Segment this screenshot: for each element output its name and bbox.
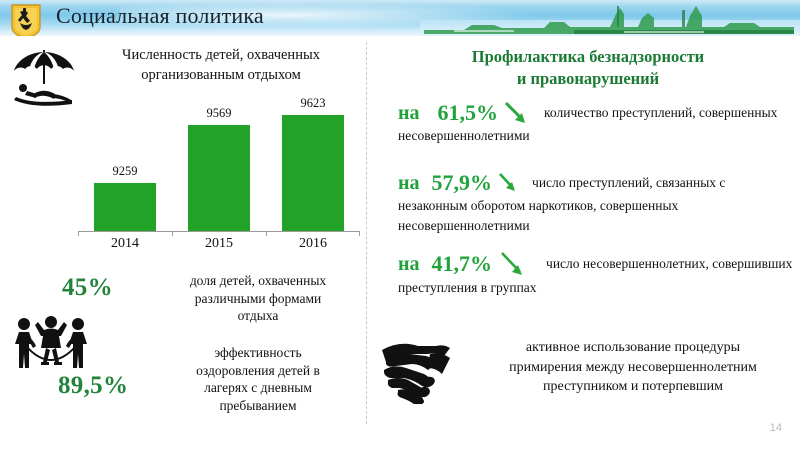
page-title: Социальная политика (56, 3, 264, 29)
bar-value-2014: 9259 (113, 164, 138, 179)
right-title-line-2: и правонарушений (517, 69, 659, 88)
stat-percent-value: 61,5% (438, 100, 499, 126)
mediation-line-2: примирения между несовершеннолетним (509, 360, 757, 375)
handshake-icon (378, 334, 474, 408)
regional-coat-of-arms (10, 3, 42, 36)
mediation-line-1: активное использование процедуры (526, 340, 740, 355)
mediation-procedure-text: активное использование процедуры примире… (478, 338, 788, 397)
chart-x-axis (78, 231, 360, 232)
stat-percent-value: 41,7% (432, 251, 493, 277)
column-divider (366, 42, 367, 424)
beach-umbrella-icon (8, 44, 80, 106)
right-title-line-1: Профилактика безнадзорности (472, 47, 704, 66)
bar-2015 (188, 125, 250, 232)
slide-number: 14 (770, 422, 782, 434)
mediation-line-3: преступником и потерпевшим (543, 379, 723, 394)
children-rest-bar-chart: 9259 9569 9623 2014 2015 2016 (78, 100, 360, 255)
city-skyline-silhouette (424, 4, 794, 34)
stat-prefix: на (398, 172, 420, 195)
category-label-2015: 2015 (172, 236, 266, 252)
chart-title-line-2: организованным отдыхом (141, 67, 301, 83)
note-line-3: отдыха (238, 308, 279, 323)
chart-title: Численность детей, охваченных организова… (86, 46, 356, 85)
stat-prefix: на (398, 102, 420, 125)
note-line-1: эффективность (214, 345, 301, 360)
stat-share-of-children-note: доля детей, охваченных различными формам… (168, 272, 348, 325)
slide: Социальная политика Численность детей, о… (0, 0, 800, 450)
stat-juvenile-crimes: на 61,5% количество преступлений, соверш… (398, 100, 794, 146)
arrow-down-right-icon (496, 171, 522, 195)
chart-plot-area: 9259 9569 9623 (78, 100, 360, 232)
note-line-2: различными формами (195, 291, 322, 306)
stat-camp-effectiveness-note: эффективность оздоровления детей в лагер… (168, 344, 348, 414)
bar-value-2015: 9569 (207, 106, 232, 121)
category-label-2014: 2014 (78, 236, 172, 252)
chart-title-line-1: Численность детей, охваченных (122, 47, 320, 63)
stat-prefix: на (398, 253, 420, 276)
stat-drug-related-crimes: на 57,9% число преступлений, связанных с… (398, 170, 794, 235)
category-label-2016: 2016 (266, 236, 360, 252)
right-section-title: Профилактика безнадзорности и правонаруш… (382, 46, 794, 90)
note-line-4: пребыванием (219, 398, 296, 413)
bar-value-2016: 9623 (301, 96, 326, 111)
arrow-down-right-icon (496, 250, 532, 278)
stat-camp-effectiveness-value: 89,5% (58, 372, 128, 400)
stat-group-crimes: на 41,7% число несовершеннолетних, совер… (398, 250, 794, 298)
note-line-1: доля детей, охваченных (190, 273, 326, 288)
bar-slot-2014: 9259 (78, 100, 172, 232)
slide-header-banner: Социальная политика (0, 0, 800, 36)
bar-2014 (94, 183, 156, 232)
bar-slot-2015: 9569 (172, 100, 266, 232)
note-line-2: оздоровления детей в (196, 363, 320, 378)
bar-slot-2016: 9623 (266, 100, 360, 232)
note-line-3: лагерях с дневным (204, 380, 312, 395)
stat-share-of-children-value: 45% (62, 274, 113, 302)
bar-2016 (282, 115, 344, 232)
stat-percent-value: 57,9% (432, 170, 493, 196)
arrow-down-right-icon (502, 100, 532, 126)
